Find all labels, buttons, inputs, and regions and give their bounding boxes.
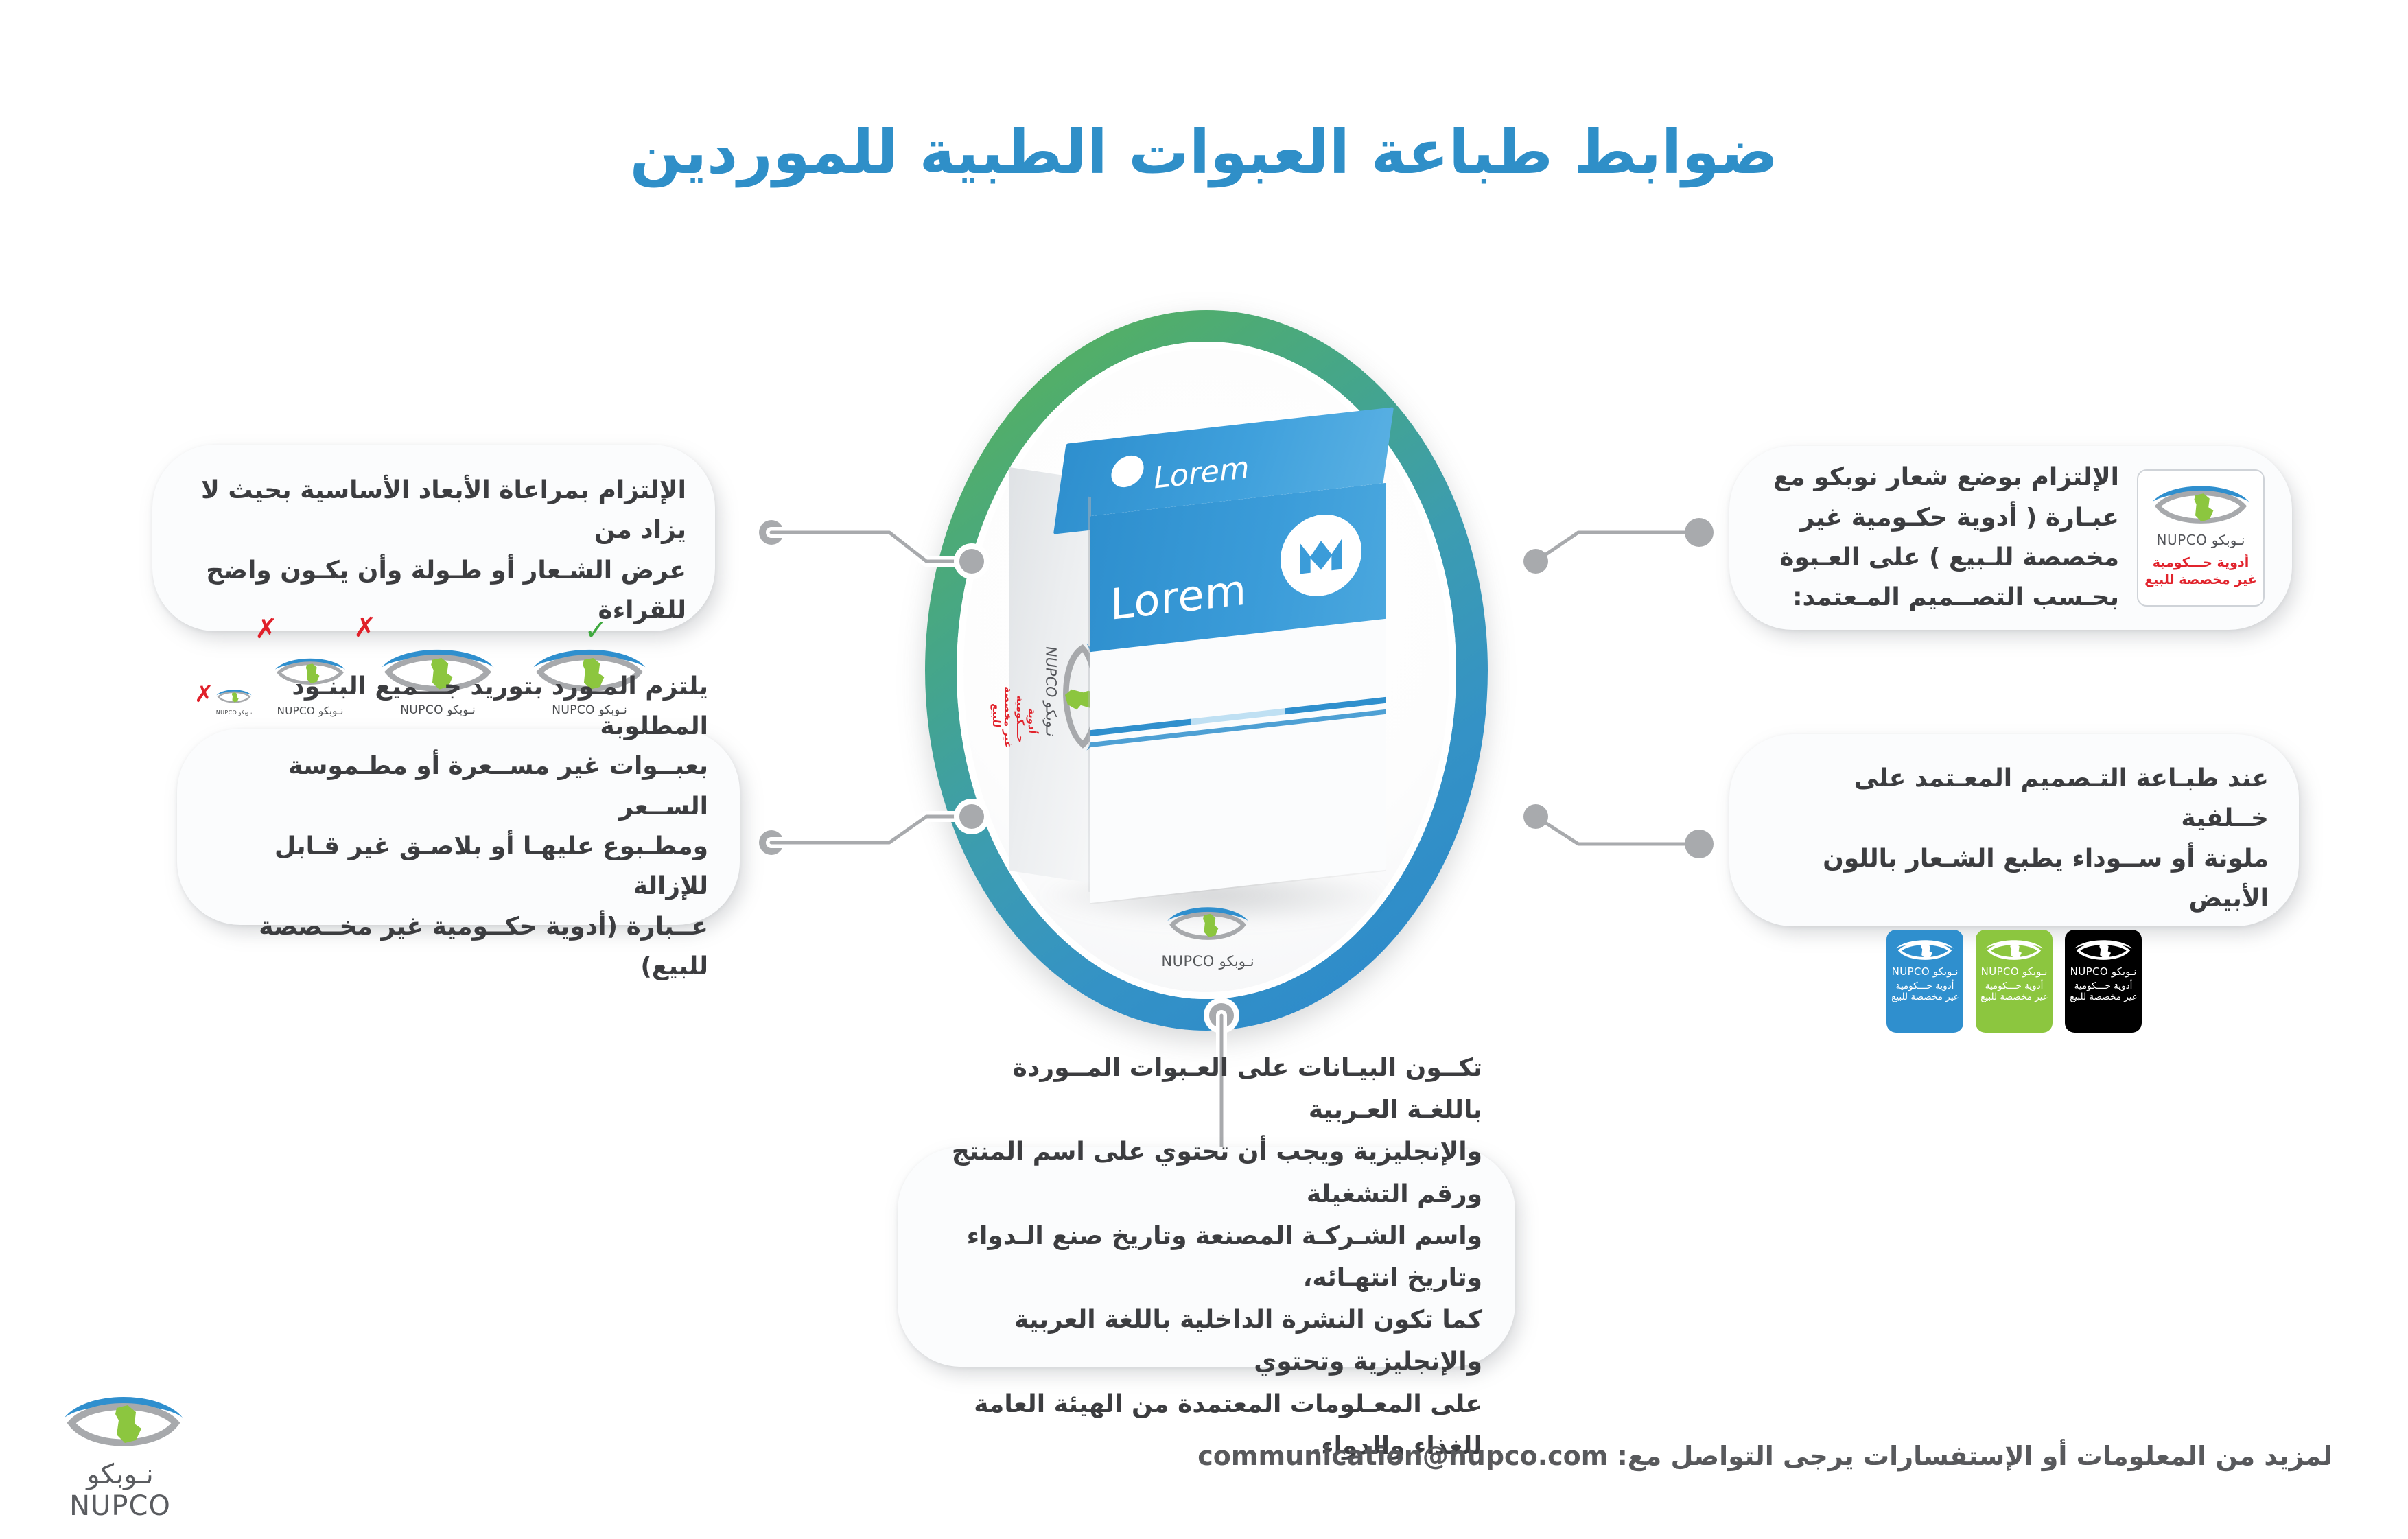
ring-logo-label: نـوبكو NUPCO bbox=[1160, 953, 1256, 970]
package-m-mark-icon bbox=[1281, 510, 1361, 600]
callout-supply-terms[interactable]: يلتزم المـورد بتوريد جـــميع البنـود الم… bbox=[177, 729, 740, 925]
chip-black: نـوبكو NUPCO أدوية حـــكومية غير مخصصة ل… bbox=[2065, 930, 2142, 1033]
connector-left-top bbox=[755, 508, 1043, 604]
package-side-notice-1: أدوية حـــكومية bbox=[1014, 685, 1038, 755]
callout-dimensions[interactable]: الإلتزام بمراعاة الأبعاد الأساسية بحيث ل… bbox=[152, 445, 715, 631]
callout-labelling-text: تكــون البيـانات على العـبوات المــوردة … bbox=[931, 1047, 1482, 1467]
chip-notice-2: غير مخصصة للبيع bbox=[2070, 991, 2137, 1002]
package-front-face: Lorem bbox=[1090, 483, 1386, 903]
chip-notice-2: غير مخصصة للبيع bbox=[1980, 991, 2048, 1002]
chip-notice-2: غير مخصصة للبيع bbox=[1891, 991, 1959, 1002]
footer-logo-label: نـوبكو NUPCO bbox=[48, 1459, 192, 1522]
chip-blue: نـوبكو NUPCO أدوية حـــكومية غير مخصصة ل… bbox=[1886, 930, 1963, 1033]
callout-dimensions-text: الإلتزام بمراعاة الأبعاد الأساسية بحيث ل… bbox=[181, 471, 686, 631]
chip-notice-1: أدوية حـــكومية bbox=[1896, 980, 1954, 991]
chip-brand: نـوبكو NUPCO bbox=[1892, 965, 1959, 978]
footer-contact-prefix: لمزيد من المعلومات أو الإستفسارات يرجى ا… bbox=[1617, 1441, 2333, 1471]
chip-notice-1: أدوية حـــكومية bbox=[2074, 980, 2133, 991]
page-title: ضوابط طباعة العبوات الطبية للموردين bbox=[0, 117, 2408, 187]
approved-label-card: نـوبكو NUPCO أدوية حـــكومية غير مخصصة ل… bbox=[2137, 469, 2265, 607]
chip-brand: نـوبكو NUPCO bbox=[1981, 965, 2048, 978]
callout-logo-placement[interactable]: نـوبكو NUPCO أدوية حـــكومية غير مخصصة ل… bbox=[1729, 446, 2292, 630]
callout-labelling-languages[interactable]: تكــون البيـانات على العـبوات المــوردة … bbox=[898, 1147, 1515, 1367]
product-package: نـوبكو NUPCO أدوية حـــكومية غير مخصصة ل… bbox=[1009, 425, 1421, 933]
connector-left-bottom bbox=[755, 789, 1043, 885]
cross-icon: ✗ bbox=[255, 615, 278, 643]
footer-nupco-logo: نـوبكو NUPCO bbox=[48, 1386, 192, 1522]
chip-brand: نـوبكو NUPCO bbox=[2070, 965, 2137, 978]
callout-logo-placement-text: الإلتزام بوضع شعار نوبكو مع عبـارة ( أدو… bbox=[1757, 458, 2119, 618]
package-side-notice-2: غير مخصصة للبيع bbox=[990, 682, 1014, 751]
package-side-brand: نـوبكو NUPCO bbox=[1042, 645, 1060, 738]
cross-icon: ✗ bbox=[353, 614, 377, 642]
footer-email[interactable]: communication@nupco.com bbox=[1197, 1441, 1608, 1471]
label-card-notice-1: أدوية حـــكومية bbox=[2153, 555, 2249, 571]
chip-green: نـوبكو NUPCO أدوية حـــكومية غير مخصصة ل… bbox=[1976, 930, 2053, 1033]
callout-colored-backgrounds-text: عند طبـاعة التـصميم المعـتمد على خــلفية… bbox=[1760, 759, 2269, 919]
check-icon: ✓ bbox=[584, 617, 607, 644]
label-card-brand: نـوبكو NUPCO bbox=[2157, 532, 2245, 548]
color-chip-row: نـوبكو NUPCO أدوية حـــكومية غير مخصصة ل… bbox=[1760, 930, 2269, 1033]
chip-notice-1: أدوية حـــكومية bbox=[1985, 980, 2044, 991]
callout-colored-backgrounds[interactable]: عند طبـاعة التـصميم المعـتمد على خــلفية… bbox=[1729, 734, 2299, 926]
infographic-canvas: ضوابط طباعة العبوات الطبية للموردين نـوب… bbox=[0, 0, 2408, 1539]
ring-nupco-logo: نـوبكو NUPCO bbox=[1160, 899, 1256, 974]
label-card-notice-2: غير مخصصة للبيع bbox=[2144, 572, 2257, 588]
footer-contact: لمزيد من المعلومات أو الإستفسارات يرجى ا… bbox=[1197, 1441, 2333, 1471]
callout-supply-terms-text: يلتزم المـورد بتوريد جـــميع البنـود الم… bbox=[209, 667, 708, 987]
